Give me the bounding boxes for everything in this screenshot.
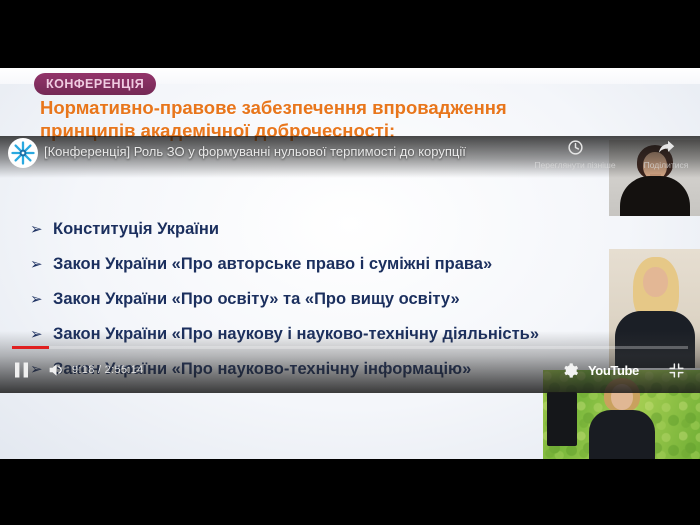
youtube-watermark[interactable]: YouTube [588, 353, 639, 387]
watch-later-label: Переглянути пізніше [534, 160, 615, 170]
bullet-arrow-icon: ➢ [30, 222, 43, 237]
avatar-face [611, 384, 633, 410]
list-item: ➢ Закон України «Про авторське право і с… [30, 255, 670, 274]
monitor-prop [547, 392, 577, 446]
volume-button[interactable] [48, 353, 66, 387]
size-toggle-button[interactable] [668, 353, 685, 387]
volume-on-icon [48, 362, 66, 378]
share-button[interactable]: Поділитися [636, 138, 696, 170]
letterbox-bar-bottom [0, 459, 700, 525]
pause-button[interactable] [14, 353, 29, 387]
list-item-label: Закон України «Про освіту» та «Про вищу … [53, 290, 460, 309]
list-item: ➢ Конституція України [30, 220, 670, 239]
bullet-arrow-icon: ➢ [30, 257, 43, 272]
youtube-video-player[interactable]: КОНФЕРЕНЦІЯ Нормативно-правове забезпече… [0, 0, 700, 525]
video-content-area[interactable]: КОНФЕРЕНЦІЯ Нормативно-правове забезпече… [0, 68, 700, 459]
list-item-label: Конституція України [53, 220, 219, 239]
avatar-body [589, 410, 655, 459]
time-display: 9:18 / 2:55:14 [72, 353, 143, 387]
player-controls-bar[interactable]: 9:18 / 2:55:14 YouTube [0, 353, 700, 387]
list-item-label: Закон України «Про наукову і науково-тех… [53, 325, 539, 344]
list-item: ➢ Закон України «Про наукову і науково-т… [30, 325, 670, 344]
conference-banner-chip: КОНФЕРЕНЦІЯ [34, 73, 156, 95]
letterbox-bar-top [0, 0, 700, 68]
list-item-label: Закон України «Про авторське право і сум… [53, 255, 492, 274]
share-arrow-icon [657, 138, 676, 156]
channel-avatar[interactable] [8, 138, 38, 168]
bullet-arrow-icon: ➢ [30, 292, 43, 307]
clock-icon [567, 138, 584, 156]
player-top-bar[interactable]: [Конференція] Роль ЗО у формуванні нульо… [0, 136, 700, 178]
video-title[interactable]: [Конференція] Роль ЗО у формуванні нульо… [44, 142, 504, 162]
progress-bar-fill [12, 346, 49, 349]
avatar-face [643, 267, 668, 297]
collapse-size-icon [668, 362, 685, 379]
list-item: ➢ Закон України «Про освіту» та «Про вищ… [30, 290, 670, 309]
snowflake-logo-icon [10, 140, 36, 166]
participant-tile-2 [609, 249, 700, 368]
share-label: Поділитися [644, 160, 689, 170]
settings-button[interactable] [562, 353, 579, 387]
bullet-arrow-icon: ➢ [30, 327, 43, 342]
watch-later-button[interactable]: Переглянути пізніше [516, 138, 634, 170]
progress-bar-track[interactable] [12, 346, 688, 349]
pause-icon [14, 362, 29, 378]
gear-icon [562, 362, 579, 379]
slide-heading-line-1: Нормативно-правове забезпечення впровадж… [40, 97, 507, 118]
